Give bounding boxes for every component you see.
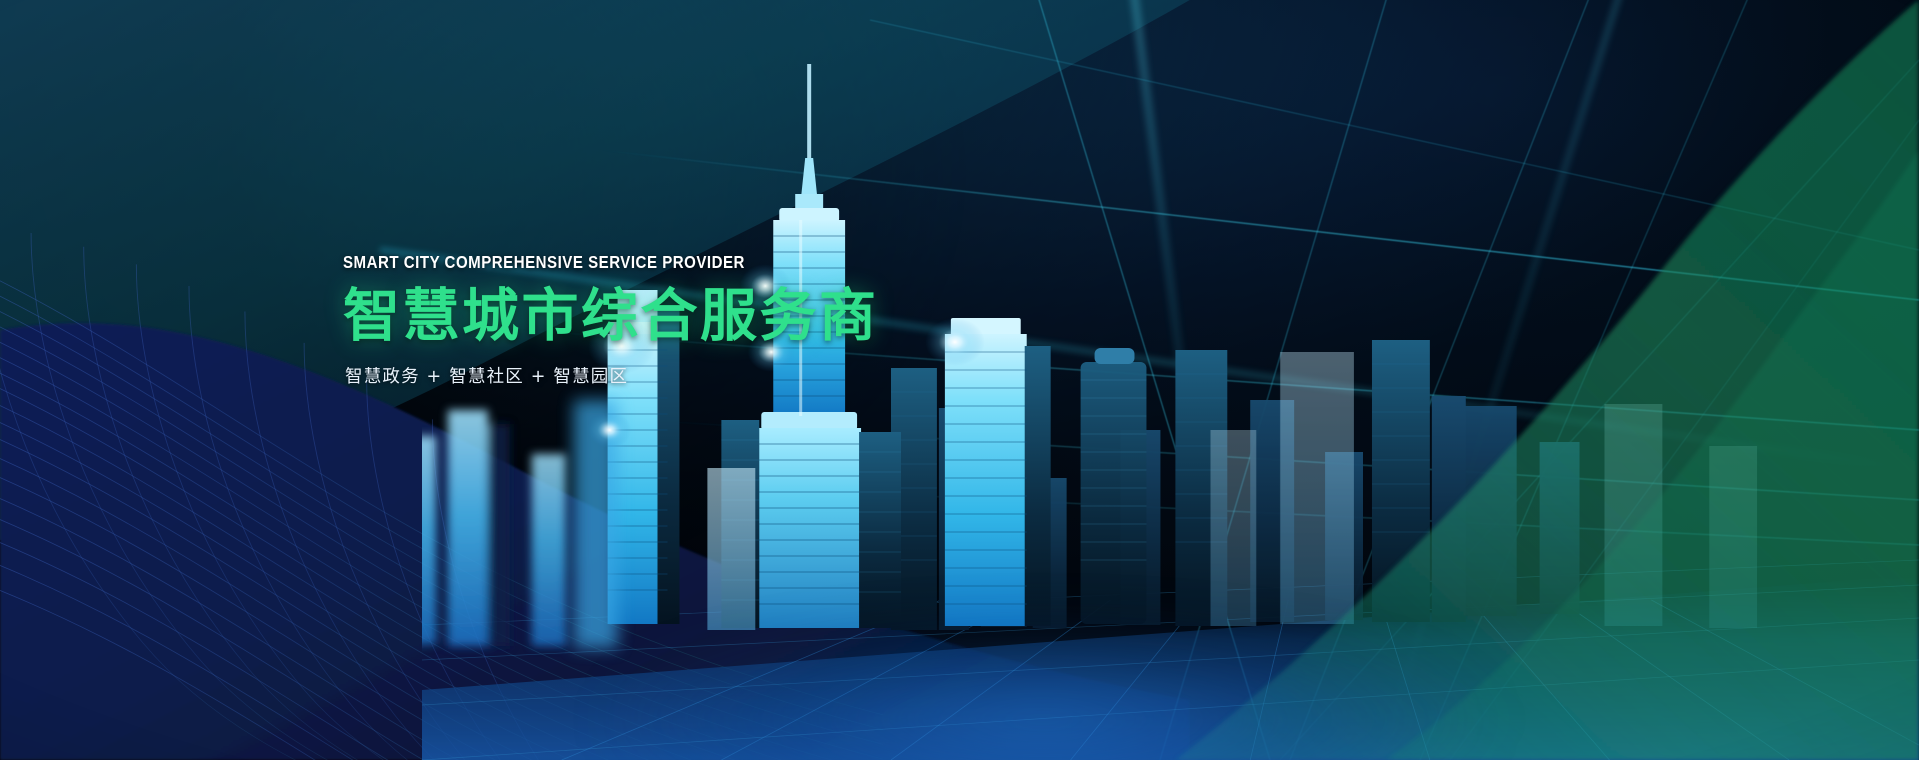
center-pale-slab <box>708 468 756 630</box>
subtitle-text: 智慧政务 + 智慧社区 + 智慧园区 <box>345 363 983 388</box>
hero-copy-block: SMART CITY COMPREHENSIVE SERVICE PROVIDE… <box>343 252 983 388</box>
foreground-bar-buildings <box>422 380 566 646</box>
eyebrow-text: SMART CITY COMPREHENSIVE SERVICE PROVIDE… <box>343 252 893 273</box>
page-title: 智慧城市综合服务商 <box>343 287 983 346</box>
green-gradient-sweep <box>1055 0 1919 760</box>
smart-city-hero-banner: SMART CITY COMPREHENSIVE SERVICE PROVIDE… <box>0 0 1919 760</box>
